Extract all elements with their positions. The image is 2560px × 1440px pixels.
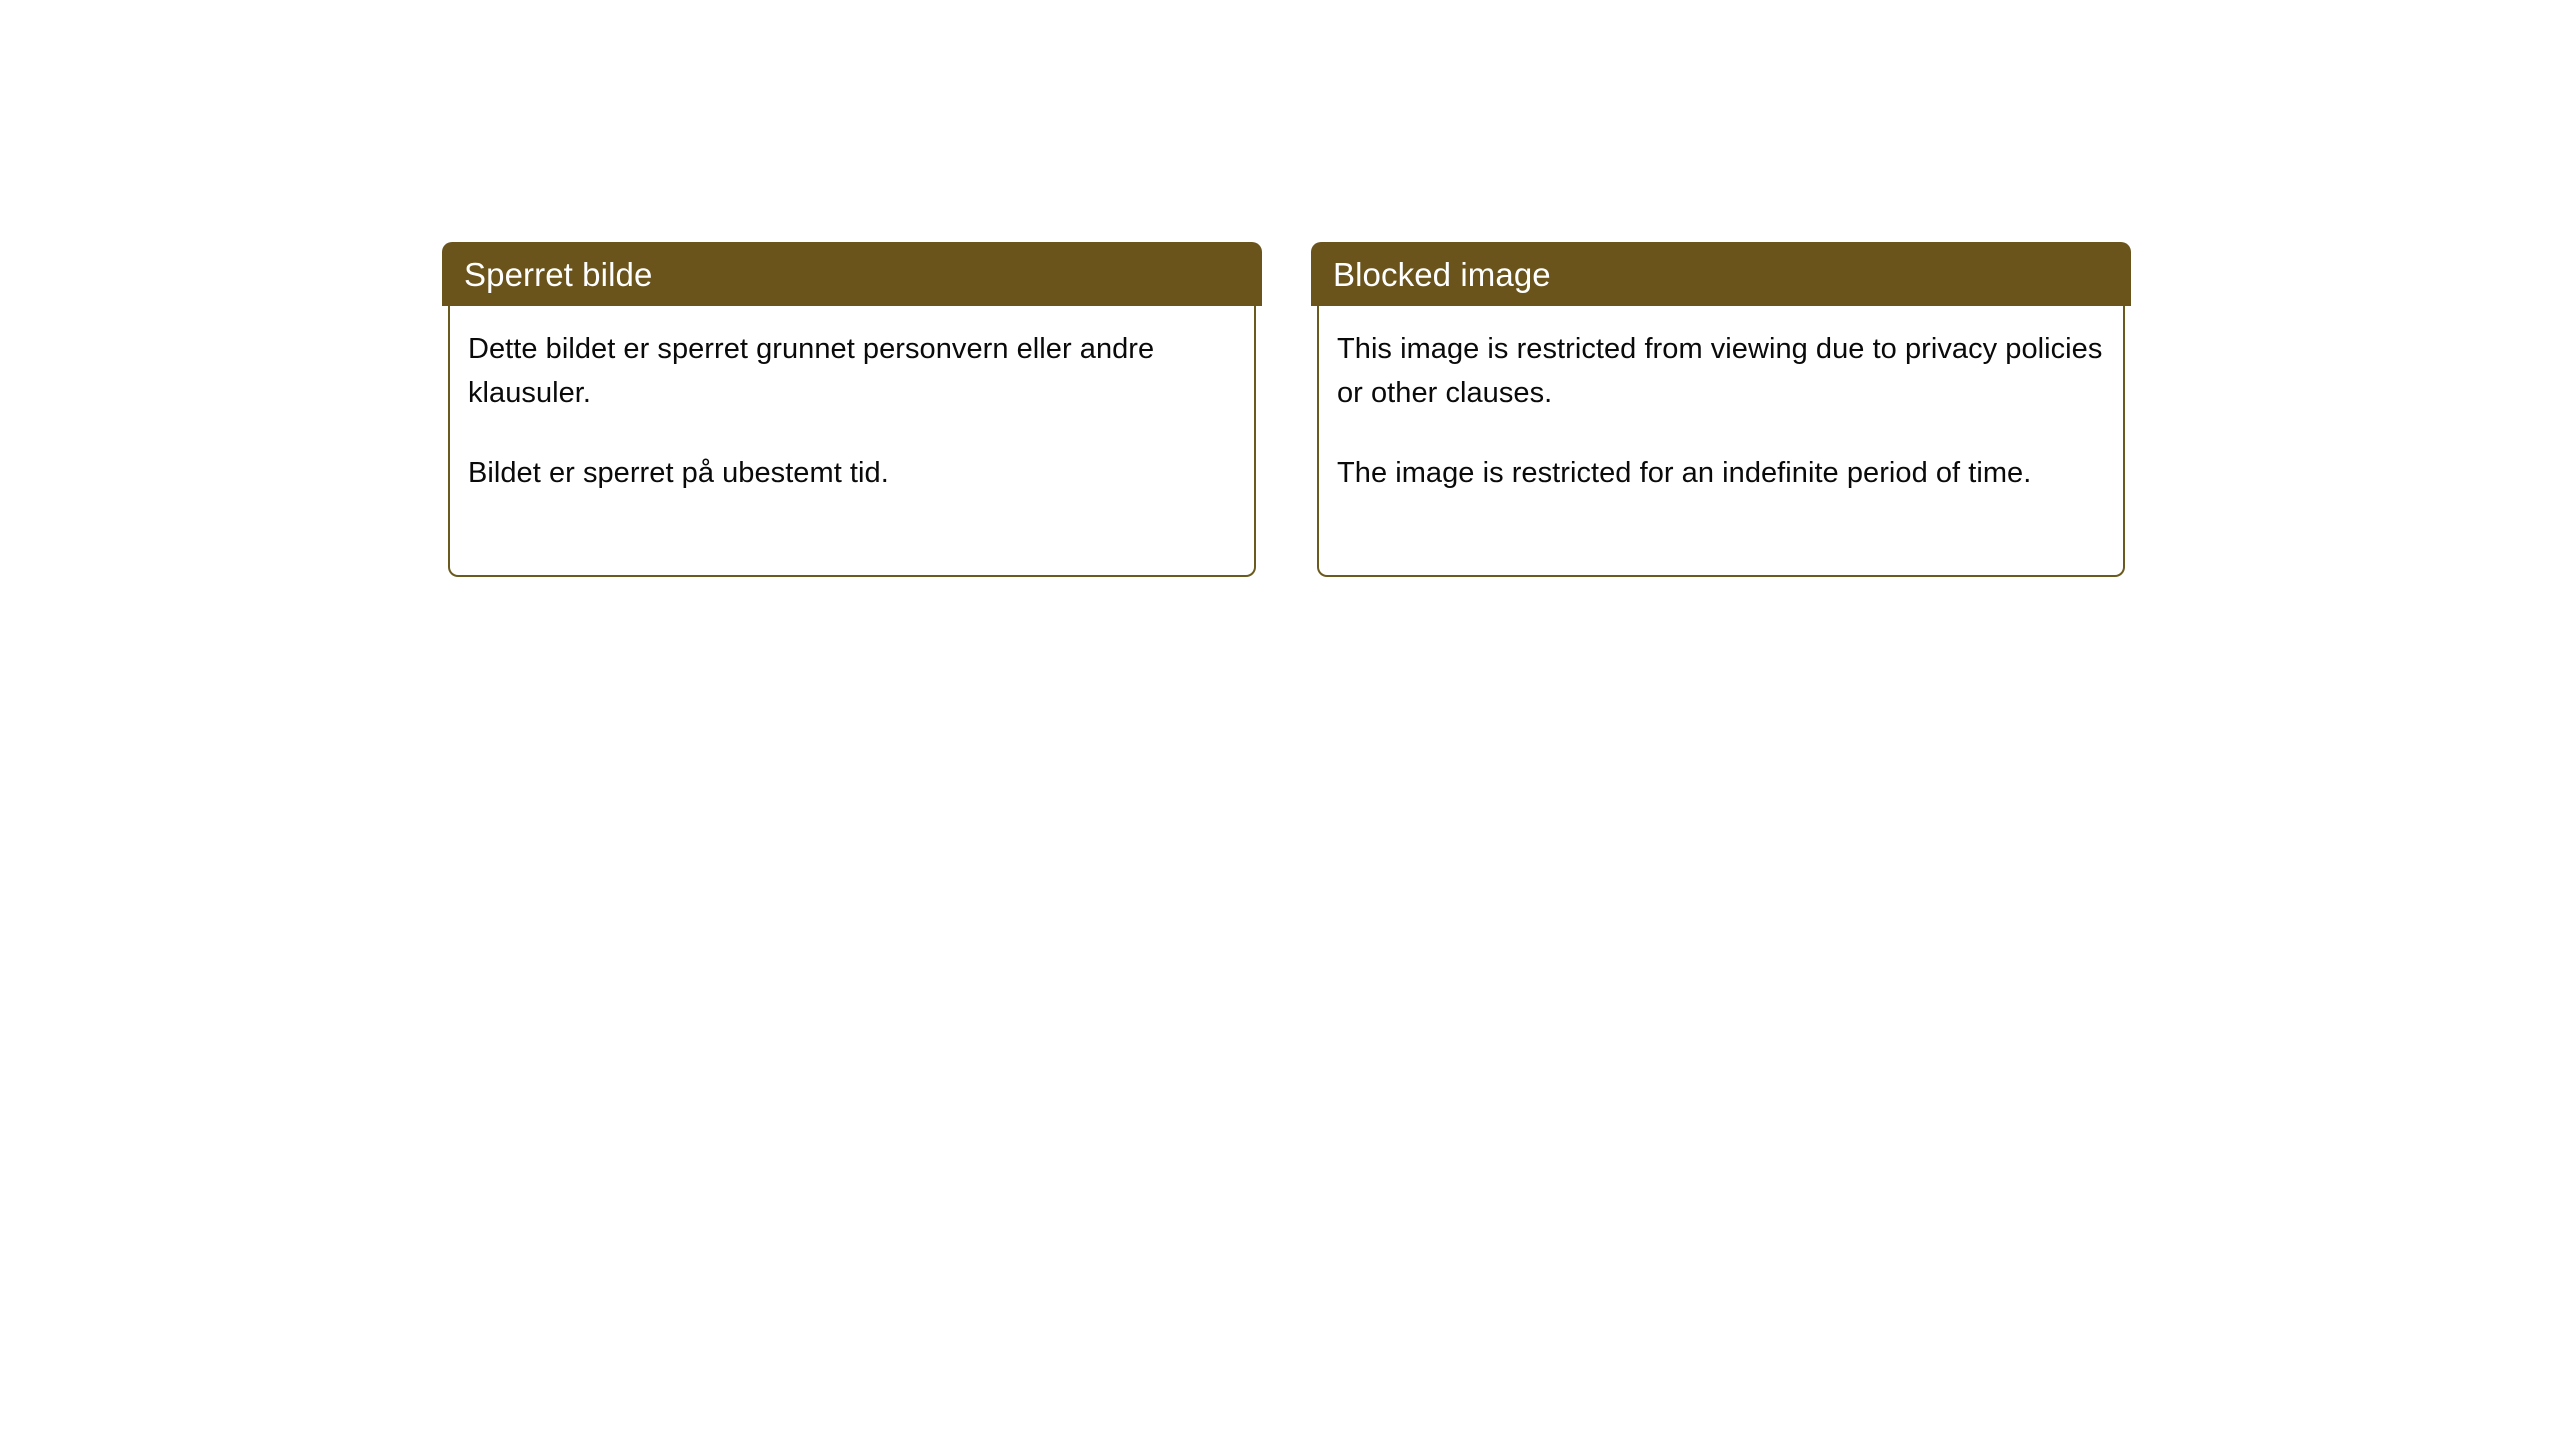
card-title-english: Blocked image [1333,258,1551,291]
card-title-norwegian: Sperret bilde [464,258,652,291]
card-paragraph-reason-english: This image is restricted from viewing du… [1337,327,2103,415]
blocked-image-notice-english: Blocked image This image is restricted f… [1317,242,2125,577]
card-body-english: This image is restricted from viewing du… [1317,305,2125,577]
page-canvas: Sperret bilde Dette bildet er sperret gr… [0,0,2560,1440]
card-header-norwegian: Sperret bilde [442,242,1262,306]
card-paragraph-duration-english: The image is restricted for an indefinit… [1337,451,2103,495]
card-paragraph-reason-norwegian: Dette bildet er sperret grunnet personve… [468,327,1234,415]
card-paragraph-duration-norwegian: Bildet er sperret på ubestemt tid. [468,451,1234,495]
card-body-norwegian: Dette bildet er sperret grunnet personve… [448,305,1256,577]
blocked-image-notice-norwegian: Sperret bilde Dette bildet er sperret gr… [448,242,1256,577]
card-header-english: Blocked image [1311,242,2131,306]
